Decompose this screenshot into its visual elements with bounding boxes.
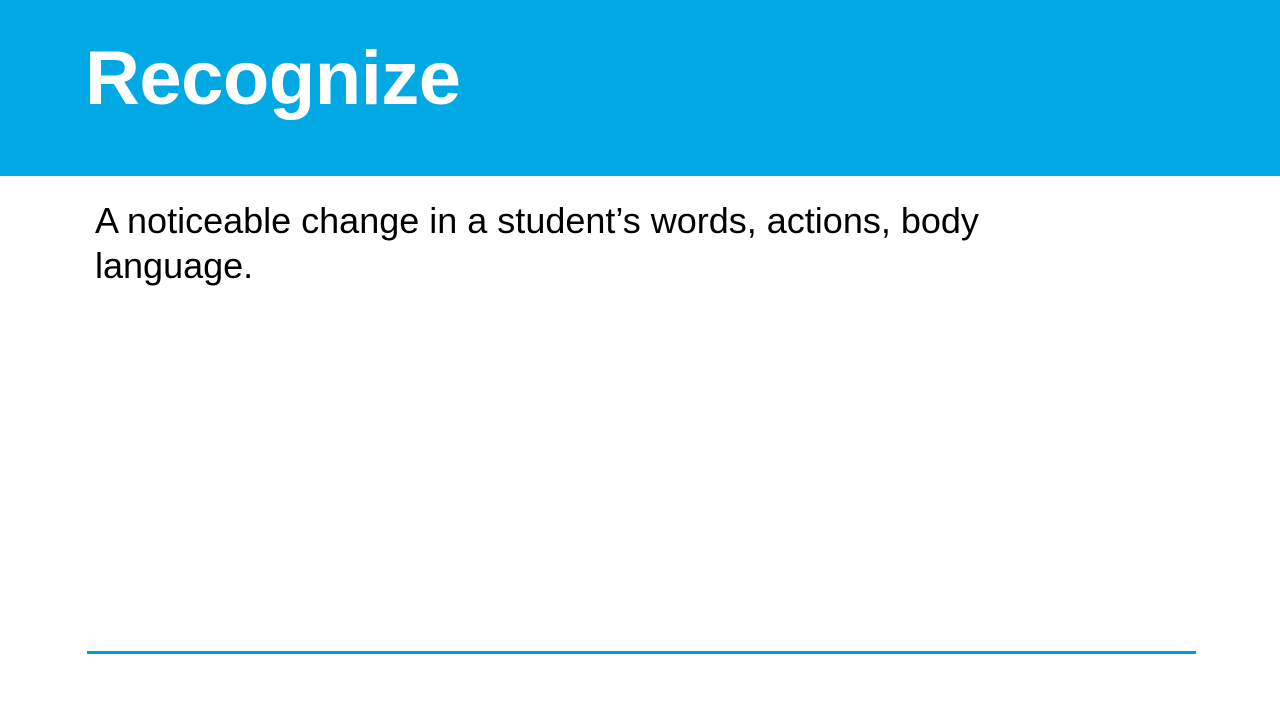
slide-canvas: Recognize A noticeable change in a stude… (0, 0, 1280, 720)
body-paragraph: A noticeable change in a student’s words… (95, 198, 1055, 288)
title-band: Recognize (0, 0, 1280, 176)
footer: BCcampus Learning. Doing. Leading. Capac… (0, 660, 1280, 720)
page-title: Recognize (85, 40, 461, 118)
footer-divider (87, 651, 1196, 654)
